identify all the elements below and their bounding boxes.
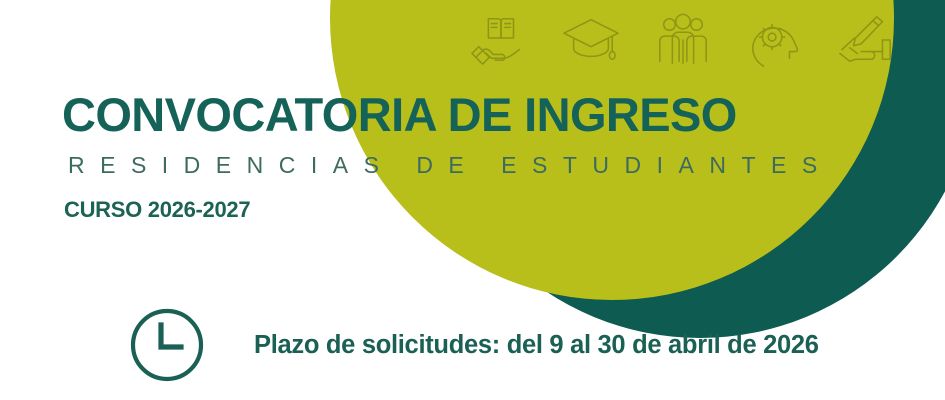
graduation-cap-icon: [560, 11, 622, 67]
hand-writing-icon: [836, 11, 898, 67]
deadline-row: Plazo de solicitudes: del 9 al 30 de abr…: [128, 306, 819, 384]
deadline-text: Plazo de solicitudes: del 9 al 30 de abr…: [254, 331, 819, 360]
course-label: CURSO 2026-2027: [64, 196, 902, 224]
icon-strip: [468, 8, 898, 70]
admissions-banner: CONVOCATORIA DE INGRESO RESIDENCIAS DE E…: [0, 0, 945, 400]
head-with-gear-icon: [744, 11, 806, 67]
clock-icon: [128, 306, 206, 384]
group-of-people-icon: [652, 11, 714, 67]
headline-block: CONVOCATORIA DE INGRESO RESIDENCIAS DE E…: [62, 88, 902, 224]
page-title: CONVOCATORIA DE INGRESO: [62, 88, 902, 142]
page-subtitle: RESIDENCIAS DE ESTUDIANTES: [68, 148, 902, 182]
hand-holding-book-icon: [468, 11, 530, 67]
